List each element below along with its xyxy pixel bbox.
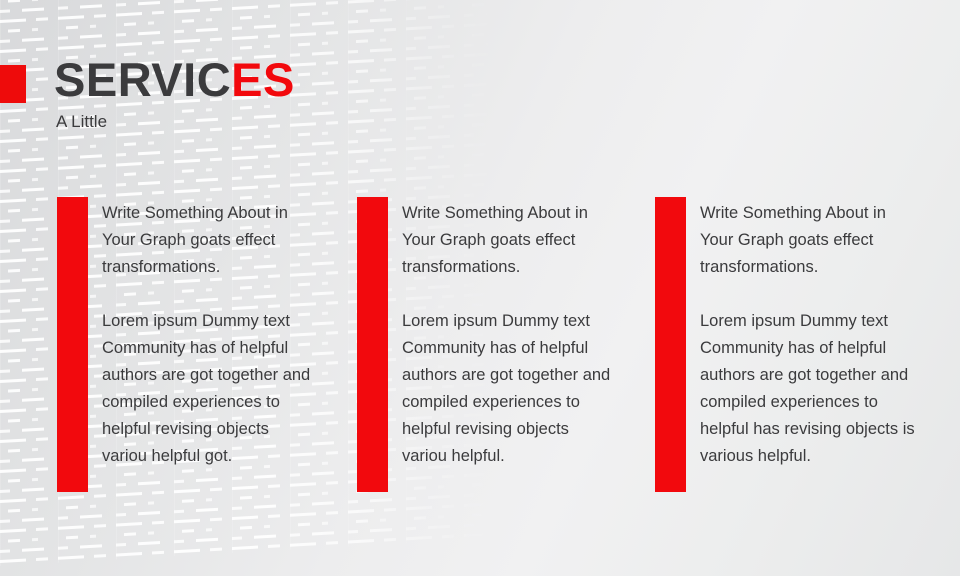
texture-dash-row: [0, 161, 520, 193]
page-title: SERVICES: [54, 56, 295, 103]
texture-dash-row: [0, 11, 520, 43]
column-vertical-label: Database Design: [357, 453, 388, 576]
texture-dash-row: [0, 0, 520, 13]
column-accent-bar: Interactive Design: [655, 197, 686, 492]
page-title-dark: SERVIC: [54, 53, 231, 106]
service-column-web-development: Web Development Write Something About in…: [57, 197, 317, 492]
column-vertical-label: Interactive Design: [655, 453, 686, 576]
column-text: Write Something About in Your Graph goat…: [102, 200, 317, 470]
column-accent-bar: Database Design: [357, 197, 388, 492]
texture-dash-row: [0, 21, 520, 53]
column-intro-paragraph: Write Something About in Your Graph goat…: [700, 200, 915, 281]
column-body-paragraph: Lorem ipsum Dummy text Community has of …: [700, 308, 915, 470]
column-text: Write Something About in Your Graph goat…: [700, 200, 915, 470]
column-text: Write Something About in Your Graph goat…: [402, 200, 617, 470]
slide-canvas: SERVICES A Little Web Development Write …: [0, 0, 960, 576]
texture-dash-row: [0, 0, 520, 23]
column-vertical-label: Web Development: [57, 453, 88, 576]
column-intro-paragraph: Write Something About in Your Graph goat…: [402, 200, 617, 281]
column-body-paragraph: Lorem ipsum Dummy text Community has of …: [402, 308, 617, 470]
texture-dash-row: [0, 151, 520, 183]
service-column-database-design: Database Design Write Something About in…: [357, 197, 617, 492]
service-columns: Web Development Write Something About in…: [0, 197, 960, 497]
column-accent-bar: Web Development: [57, 197, 88, 492]
column-body-paragraph: Lorem ipsum Dummy text Community has of …: [102, 308, 317, 470]
texture-dash-row: [0, 0, 520, 3]
accent-square: [0, 65, 26, 103]
page-subtitle: A Little: [56, 113, 107, 130]
page-title-accent: ES: [231, 53, 295, 106]
texture-dash-row: [0, 131, 520, 163]
column-intro-paragraph: Write Something About in Your Graph goat…: [102, 200, 317, 281]
service-column-interactive-design: Interactive Design Write Something About…: [655, 197, 915, 492]
texture-dash-row: [0, 1, 520, 33]
texture-dash-row: [0, 141, 520, 173]
